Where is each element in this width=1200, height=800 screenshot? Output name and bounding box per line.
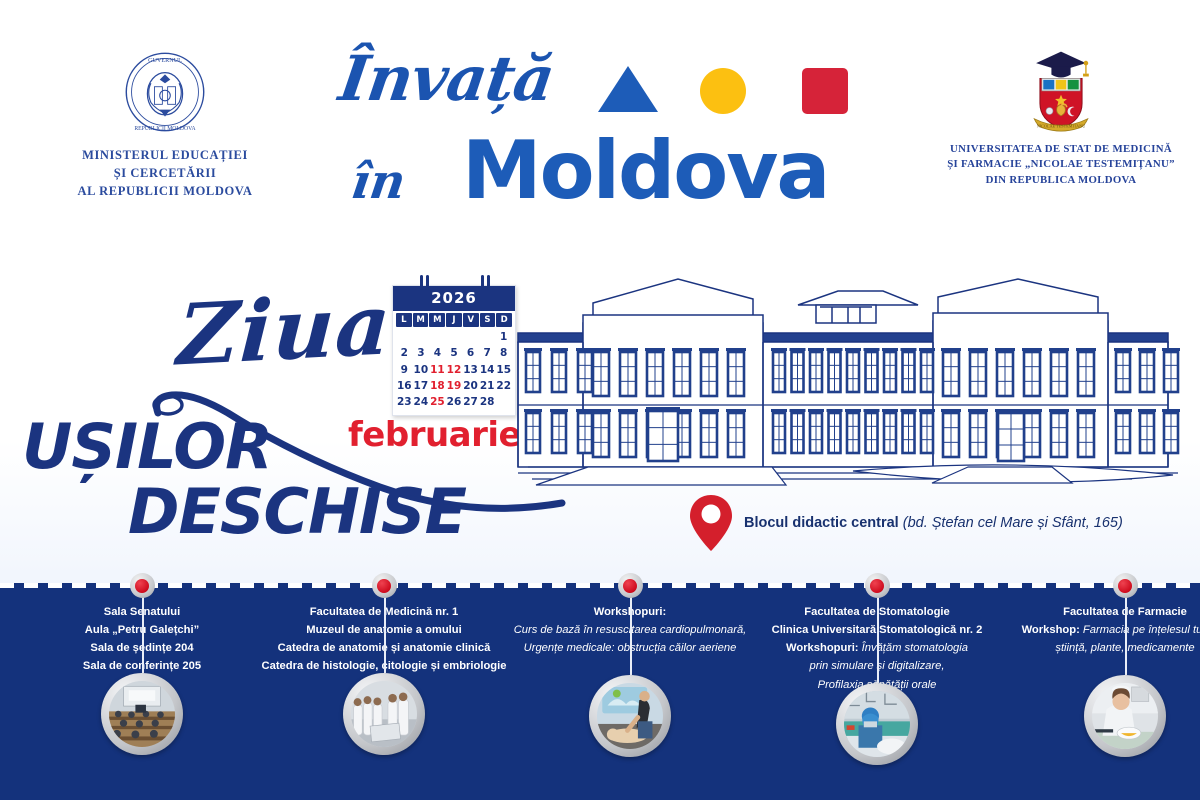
building-window [726,409,746,457]
calendar-day-4[interactable]: 4 [429,345,446,361]
building-window [524,348,542,392]
photo-inner [844,691,910,757]
calendar-day-11[interactable]: 11 [429,362,446,378]
svg-text:REPUBLICII MOLDOVA: REPUBLICII MOLDOVA [134,126,196,132]
calendar-day-28[interactable]: 28 [479,394,496,410]
calendar-day-5[interactable]: 5 [446,345,463,361]
building-window [1138,348,1156,392]
svg-text:NICOLAE TESTEMITANU: NICOLAE TESTEMITANU [1037,123,1086,128]
calendar-day-24[interactable]: 24 [413,394,430,410]
calendar-weekday-3: J [446,313,462,327]
building-window [1162,409,1180,453]
building-window [864,409,880,453]
timeline-stem-senate-hall [142,597,144,673]
svg-text:GUVERNUL: GUVERNUL [148,58,182,64]
building-window [845,409,861,453]
photo-inner [351,681,417,747]
building-window [550,409,568,453]
event-month-label: februarie [348,415,521,455]
timeline-stem-medicine-faculty-1 [384,597,386,673]
calendar-weekday-5: S [480,313,496,327]
calendar-day-16[interactable]: 16 [396,378,413,394]
ministry-line-2: ȘI CERCETĂRII [30,164,300,182]
calendar-blank: . [479,329,496,345]
timeline-stem-workshops-cpr [630,597,632,675]
invata-in-moldova-brand: Învață în Moldova [330,42,890,220]
building-window [882,348,898,392]
building-window [1076,348,1096,396]
calendar-blank: . [462,329,479,345]
lecture-hall-photo[interactable] [101,673,183,755]
programme-text-pharmacy-faculty: Facultatea de FarmacieWorkshop: Farmacia… [1002,603,1200,657]
calendar-day-20[interactable]: 20 [462,378,479,394]
calendar-day-6[interactable]: 6 [462,345,479,361]
building-window [790,409,806,453]
event-title-line2: UȘILOR [22,410,272,483]
building-window [726,348,746,396]
building-window [845,348,861,392]
building-window [1049,409,1069,457]
calendar-day-26[interactable]: 26 [446,394,463,410]
calendar-day-grid: ......1234567891011121314151617181920212… [393,327,515,415]
building-window [576,409,594,453]
building-window [827,348,843,392]
red-square-icon [802,68,848,114]
map-pin-icon [688,493,734,553]
building-window [699,348,719,396]
building-window [1138,409,1156,453]
location-address: (bd. Ștefan cel Mare și Sfânt, 165) [903,515,1123,531]
calendar-weekday-4: V [463,313,479,327]
building-window [618,409,638,457]
timeline-marker-stomatology-faculty[interactable] [865,573,890,598]
poster-main-section: Ziua UȘILOR DESCHISE 2026 LMMJVSD ......… [0,235,1200,575]
calendar-year: 2026 [393,286,515,311]
pharmacy-lab-photo[interactable] [1084,675,1166,757]
timeline-marker-dot [135,579,149,593]
timeline-marker-dot [623,579,637,593]
building-window [968,409,988,457]
poster-canvas: GUVERNUL REPUBLICII MOLDOVA MINISTERUL E… [0,0,1200,800]
calendar-day-7[interactable]: 7 [479,345,496,361]
building-window [618,348,638,396]
building-window [968,348,988,396]
calendar-blank: . [413,329,430,345]
calendar-blank: . [396,329,413,345]
dental-lab-photo[interactable] [836,683,918,765]
programme-line: Workshop: Farmacia pe înțelesul tuturor: [1002,621,1200,639]
ministry-logo-block: GUVERNUL REPUBLICII MOLDOVA MINISTERUL E… [30,48,300,200]
building-window [771,409,787,453]
timeline-marker-dot [870,579,884,593]
calendar-day-27[interactable]: 27 [462,394,479,410]
calendar-day-23[interactable]: 23 [396,394,413,410]
building-window [996,409,1026,461]
building-window [941,348,961,396]
building-window [790,348,806,392]
building-window [901,348,917,392]
building-window [808,409,824,453]
university-line-1: UNIVERSITATEA DE STAT DE MEDICINĂ [946,142,1176,157]
programme-line-label: Workshopuri: [786,642,862,654]
building-window [645,348,665,396]
building-window [550,348,568,392]
programme-panel: Sala SenatuluiAula „Petru Galețchi”Sala … [0,585,1200,800]
timeline-marker-dot [377,579,391,593]
building-window [591,409,611,457]
programme-line-label: Workshop: [1022,624,1083,636]
calendar-blank: . [446,329,463,345]
building-window [1049,348,1069,396]
dashed-timeline-divider [0,583,1200,588]
central-building-illustration [498,255,1188,500]
anatomy-lab-photo[interactable] [343,673,425,755]
building-window [1022,348,1042,396]
building-window [591,348,611,396]
building-window [827,409,843,453]
calendar-weekday-1: M [413,313,429,327]
event-title-line3: DESCHISE [128,475,466,548]
building-window [919,409,935,453]
moldova-government-seal-icon: GUVERNUL REPUBLICII MOLDOVA [121,48,209,136]
calendar-day-21[interactable]: 21 [479,378,496,394]
timeline-marker-dot [1118,579,1132,593]
calendar-blank: . [429,329,446,345]
calendar-day-12[interactable]: 12 [446,362,463,378]
building-window [901,409,917,453]
blue-triangle-icon [598,66,658,112]
building-window [995,348,1015,396]
building-window [941,409,961,457]
ministry-line-3: AL REPUBLICII MOLDOVA [30,182,300,200]
building-window [1076,409,1096,457]
building-window [576,348,594,392]
calendar-day-14[interactable]: 14 [479,362,496,378]
programme-line: știință, plante, medicamente [1002,639,1200,657]
brand-word-in: în [348,154,409,210]
timeline-marker-medicine-faculty-1[interactable] [372,573,397,598]
location-row: Blocul didactic central (bd. Ștefan cel … [688,493,1168,553]
usmf-coat-of-arms-icon: NICOLAE TESTEMITANU [1022,42,1100,134]
ministry-line-1: MINISTERUL EDUCAȚIEI [30,146,300,164]
cpr-training-photo[interactable] [589,675,671,757]
building-window [1114,409,1132,453]
programme-line: Facultatea de Farmacie [1002,603,1200,621]
photo-inner [109,681,175,747]
calendar-weekday-0: L [396,313,412,327]
timeline-stem-stomatology-faculty [877,597,879,683]
timeline-marker-senate-hall[interactable] [130,573,155,598]
calendar-day-9[interactable]: 9 [396,362,413,378]
calendar-day-25[interactable]: 25 [429,394,446,410]
building-window [808,348,824,392]
photo-inner [1092,683,1158,749]
poster-header: GUVERNUL REPUBLICII MOLDOVA MINISTERUL E… [0,0,1200,235]
building-window [524,409,542,453]
building-window [771,348,787,392]
university-logo-block: NICOLAE TESTEMITANU UNIVERSITATEA DE STA… [946,42,1176,188]
location-name: Blocul didactic central [744,515,899,531]
timeline-stem-pharmacy-faculty [1125,597,1127,675]
calendar-day-18[interactable]: 18 [429,378,446,394]
calendar-weekday-header: LMMJVSD [393,311,515,327]
building-window [672,348,692,396]
photo-inner [597,683,663,749]
building-window [919,348,935,392]
brand-word-moldova: Moldova [462,124,828,217]
event-title-script: Ziua [175,275,394,385]
building-window [1162,348,1180,392]
calendar-day-13[interactable]: 13 [462,362,479,378]
university-line-2: ȘI FARMACIE „NICOLAE TESTEMIȚANU” [946,157,1176,172]
calendar-day-3[interactable]: 3 [413,345,430,361]
brand-word-invata: Învață [335,42,558,115]
yellow-circle-icon [700,68,746,114]
building-window [864,348,880,392]
calendar-day-2[interactable]: 2 [396,345,413,361]
calendar-day-10[interactable]: 10 [413,362,430,378]
programme-line-value: Farmacia pe înțelesul tuturor: [1083,624,1200,636]
timeline-marker-pharmacy-faculty[interactable] [1113,573,1138,598]
timeline-marker-workshops-cpr[interactable] [618,573,643,598]
building-window [699,409,719,457]
building-window [1114,348,1132,392]
university-line-3: DIN REPUBLICA MOLDOVA [946,173,1176,188]
building-window [646,407,680,461]
building-window [882,409,898,453]
calendar-weekday-2: M [429,313,445,327]
calendar-day-19[interactable]: 19 [446,378,463,394]
calendar-day-17[interactable]: 17 [413,378,430,394]
